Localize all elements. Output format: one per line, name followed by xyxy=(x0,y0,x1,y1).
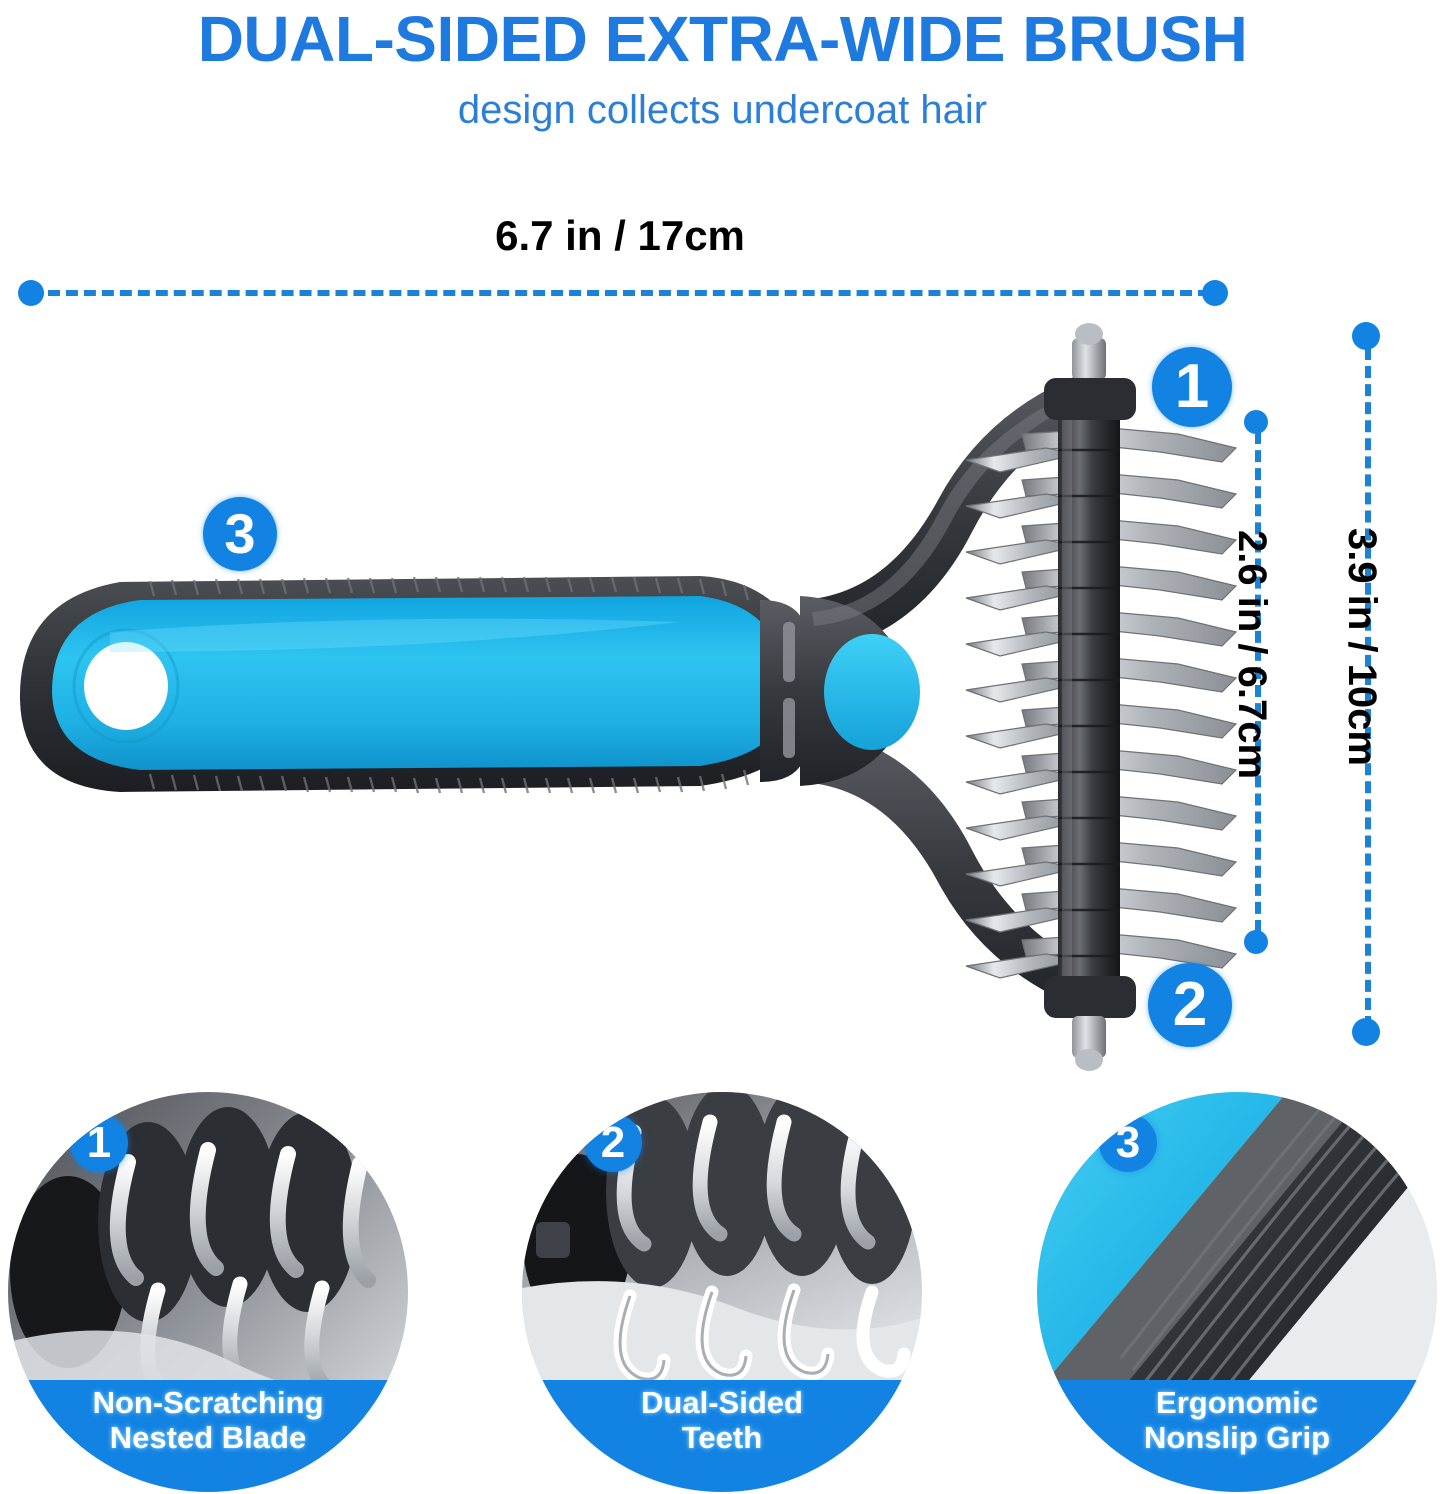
feature-3-caption-line1: Ergonomic xyxy=(1037,1386,1437,1421)
feature-circle-nonslip-grip: 3 Ergonomic Nonslip Grip xyxy=(1037,1092,1437,1492)
feature-2-badge: 2 xyxy=(584,1114,642,1172)
product-illustration xyxy=(0,300,1260,1080)
end-cap-bottom xyxy=(1044,976,1136,1071)
blade-hub xyxy=(1058,418,1120,984)
yoke-connector xyxy=(760,600,806,782)
feature-3-caption-line2: Nonslip Grip xyxy=(1037,1421,1437,1456)
outer-height-dot-top xyxy=(1352,322,1380,350)
accent-oval xyxy=(824,634,920,750)
outer-height-dimension-label: 3.9 in / 10cm xyxy=(1339,528,1384,766)
width-dimension-line xyxy=(30,290,1210,296)
feature-1-caption: Non-Scratching Nested Blade xyxy=(8,1380,408,1492)
feature-1-badge: 1 xyxy=(70,1114,128,1172)
callout-badge-2: 2 xyxy=(1148,963,1232,1047)
feature-circle-nested-blade: 1 Non-Scratching Nested Blade xyxy=(8,1092,408,1492)
page-subtitle: design collects undercoat hair xyxy=(0,88,1445,133)
outer-height-dot-bottom xyxy=(1352,1018,1380,1046)
callout-badge-3: 3 xyxy=(203,497,277,571)
feature-2-caption: Dual-Sided Teeth xyxy=(522,1380,922,1492)
width-dimension-label: 6.7 in / 17cm xyxy=(0,212,1240,260)
hanging-hole xyxy=(84,642,168,730)
handle-body xyxy=(52,596,790,770)
page-title: DUAL-SIDED EXTRA-WIDE BRUSH xyxy=(0,2,1445,76)
feature-circle-dual-sided-teeth: 2 Dual-Sided Teeth xyxy=(522,1092,922,1492)
feature-3-badge: 3 xyxy=(1099,1114,1157,1172)
feature-1-caption-line2: Nested Blade xyxy=(8,1421,408,1456)
feature-2-caption-line2: Teeth xyxy=(522,1421,922,1456)
callout-badge-1: 1 xyxy=(1152,347,1232,427)
feature-3-caption: Ergonomic Nonslip Grip xyxy=(1037,1380,1437,1492)
feature-1-caption-line1: Non-Scratching xyxy=(8,1386,408,1421)
end-cap-top xyxy=(1044,323,1136,420)
feature-2-caption-line1: Dual-Sided xyxy=(522,1386,922,1421)
product-infographic: DUAL-SIDED EXTRA-WIDE BRUSH design colle… xyxy=(0,0,1445,1494)
